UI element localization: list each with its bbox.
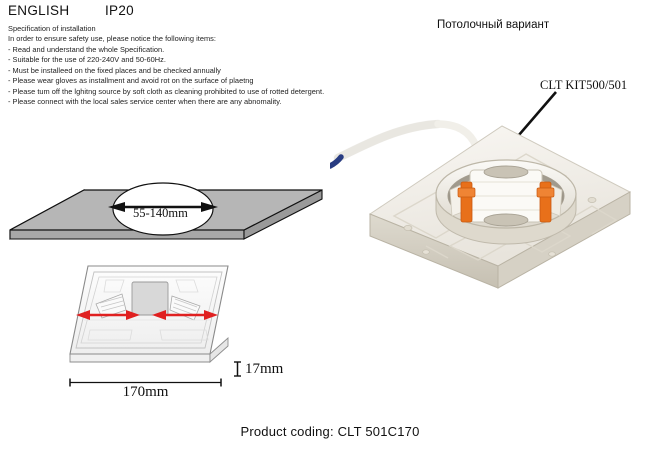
language-label: ENGLISH [8,3,69,18]
fixture-back-plate-diagram [60,258,232,373]
cutout-dimension-label: 55-140mm [133,206,188,221]
specification-block: Specification of installation In order t… [8,24,353,108]
height-dimension: 17mm [233,358,283,380]
height-dimension-bar [233,360,242,378]
ceiling-slab-diagram [4,108,344,258]
height-dimension-label: 17mm [245,361,283,378]
spec-intro: In order to ensure safety use, please no… [8,34,353,44]
spec-title: Specification of installation [8,24,353,34]
header: ENGLISH IP20 [8,3,338,21]
driver-box [132,282,168,315]
product-coding-label: Product coding: CLT 501C170 [0,424,660,439]
spec-item: - Suitable for the use of 220-240V and 5… [8,55,353,65]
ring-slot-top [484,166,528,178]
spec-item: - Read and understand the whole Specific… [8,45,353,55]
spec-item: - Please connect with the local sales se… [8,97,353,107]
ring-slot-bottom [484,214,528,226]
plate-front-thickness [70,354,210,362]
ceiling-variant-caption: Потолочный вариант [437,19,549,31]
spec-item: - Must be installeed on the fixed places… [8,66,353,76]
ip-rating-label: IP20 [105,3,134,18]
slab-front-edge [10,230,244,239]
installation-diagram-page: ENGLISH IP20 Specification of installati… [0,0,660,455]
spec-item: - Please tum off the lghitng source by s… [8,87,353,97]
mounting-kit-ring [436,160,576,244]
width-dimension-label: 170mm [68,384,223,401]
ceiling-luminaire-photo [330,96,660,296]
spec-item: - Please wear gloves as installment and … [8,76,353,86]
width-dimension: 170mm [68,375,223,401]
